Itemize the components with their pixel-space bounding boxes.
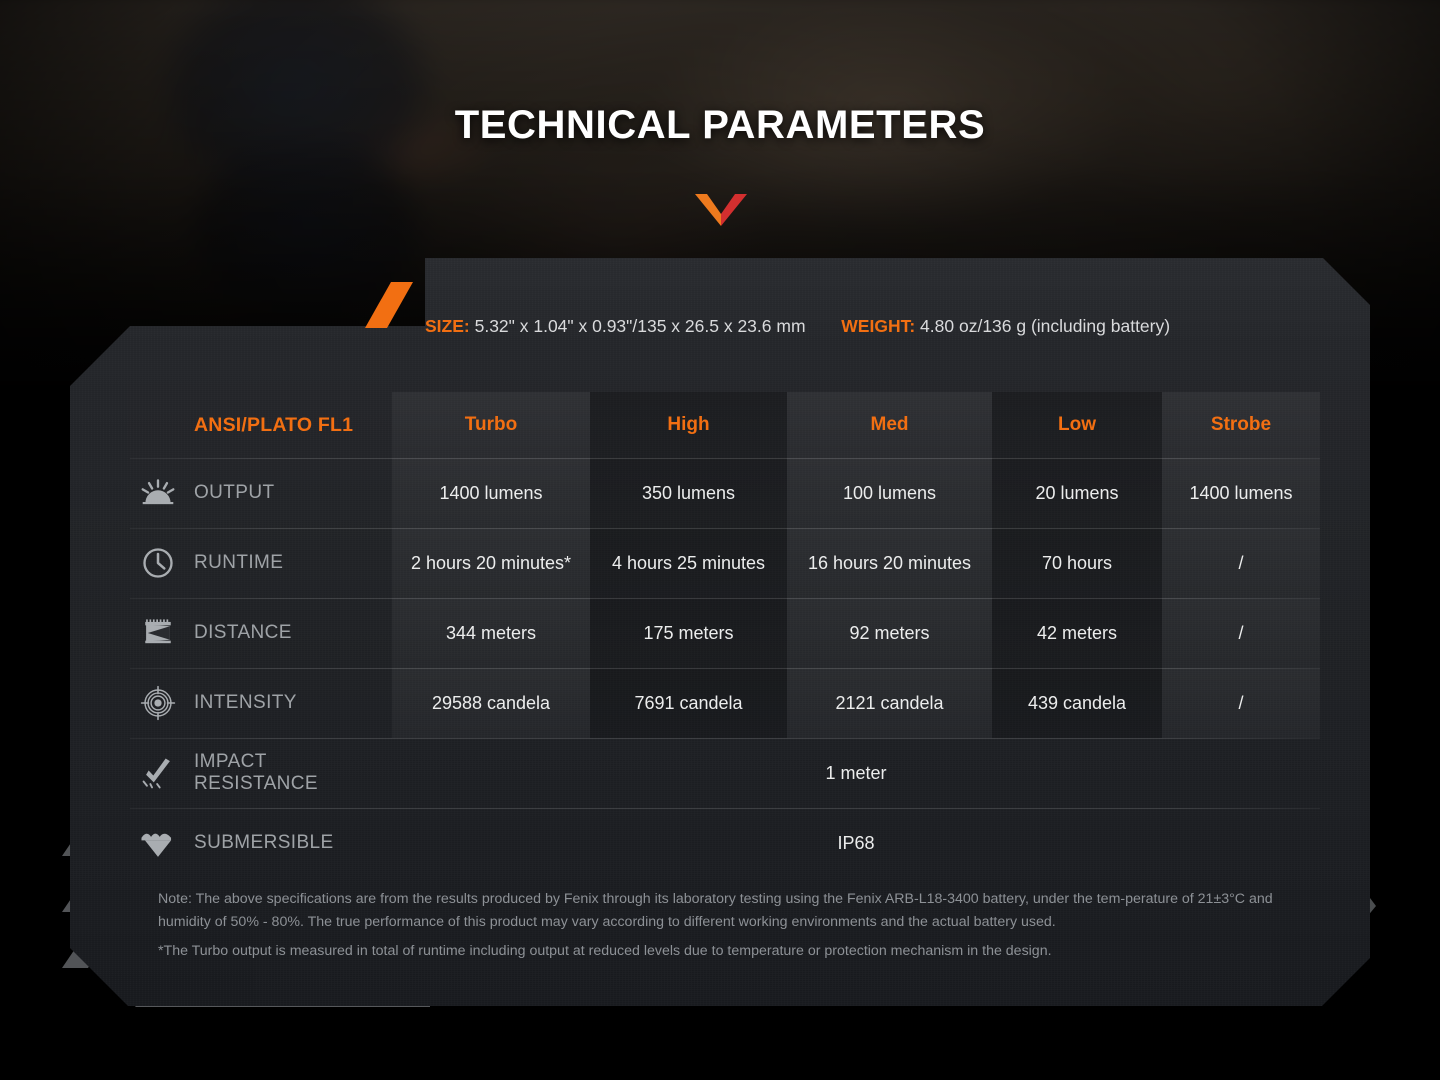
cell-intensity-high: 7691 candela <box>590 668 787 738</box>
row-label-submersible: SUBMERSIBLE <box>130 808 392 878</box>
target-icon <box>136 684 180 722</box>
table-header-row: ANSI/PLATO FL1 Turbo High Med Low Strobe <box>130 392 1320 458</box>
row-label-text: RUNTIME <box>194 552 283 574</box>
footnote-line-2: *The Turbo output is measured in total o… <box>158 940 1302 963</box>
cell-runtime-strobe: / <box>1162 528 1320 598</box>
row-label-text: INTENSITY <box>194 692 297 714</box>
table-row: SUBMERSIBLE IP68 <box>130 808 1320 878</box>
technical-parameters-page: TECHNICAL PARAMETERS <box>0 0 1440 1080</box>
cell-output-med: 100 lumens <box>787 458 992 528</box>
header-standard-label: ANSI/PLATO FL1 <box>194 414 353 437</box>
table-row: IMPACT RESISTANCE 1 meter <box>130 738 1320 808</box>
footnote-block: Note: The above specifications are from … <box>158 888 1302 963</box>
cell-distance-low: 42 meters <box>992 598 1162 668</box>
cell-impact-resistance-value: 1 meter <box>392 738 1320 808</box>
cell-output-low: 20 lumens <box>992 458 1162 528</box>
cell-runtime-med: 16 hours 20 minutes <box>787 528 992 598</box>
row-label-text: SUBMERSIBLE <box>194 832 334 854</box>
water-drop-icon <box>136 827 180 859</box>
cell-output-strobe: 1400 lumens <box>1162 458 1320 528</box>
table-row: OUTPUT 1400 lumens 350 lumens 100 lumens… <box>130 458 1320 528</box>
cell-distance-med: 92 meters <box>787 598 992 668</box>
cell-intensity-low: 439 candela <box>992 668 1162 738</box>
cell-distance-turbo: 344 meters <box>392 598 590 668</box>
cell-runtime-turbo: 2 hours 20 minutes* <box>392 528 590 598</box>
clock-icon <box>136 545 180 581</box>
footnote-line-1: Note: The above specifications are from … <box>158 888 1302 933</box>
cell-submersible-value: IP68 <box>392 808 1320 878</box>
header-standard-cell: ANSI/PLATO FL1 <box>130 392 392 458</box>
header-mode-high: High <box>590 392 787 458</box>
table-row: RUNTIME 2 hours 20 minutes* 4 hours 25 m… <box>130 528 1320 598</box>
cell-distance-high: 175 meters <box>590 598 787 668</box>
weight-value: 4.80 oz/136 g (including battery) <box>920 316 1170 336</box>
cell-output-turbo: 1400 lumens <box>392 458 590 528</box>
table-row: INTENSITY 29588 candela 7691 candela 212… <box>130 668 1320 738</box>
row-label-text: DISTANCE <box>194 622 292 644</box>
size-value: 5.32" x 1.04" x 0.93"/135 x 26.5 x 23.6 … <box>475 316 806 336</box>
size-label: SIZE: <box>425 316 470 336</box>
cell-intensity-med: 2121 candela <box>787 668 992 738</box>
sunburst-icon <box>136 475 180 511</box>
cell-intensity-strobe: / <box>1162 668 1320 738</box>
row-label-text: OUTPUT <box>194 482 275 504</box>
beam-distance-icon <box>136 616 180 650</box>
row-label-distance: DISTANCE <box>130 598 392 668</box>
header-mode-med: Med <box>787 392 992 458</box>
row-label-runtime: RUNTIME <box>130 528 392 598</box>
row-label-intensity: INTENSITY <box>130 668 392 738</box>
size-weight-strip: SIZE: 5.32" x 1.04" x 0.93"/135 x 26.5 x… <box>425 308 1325 344</box>
weight-label: WEIGHT: <box>841 316 915 336</box>
cell-runtime-low: 70 hours <box>992 528 1162 598</box>
impact-check-icon <box>136 756 180 790</box>
row-label-impact-resistance: IMPACT RESISTANCE <box>130 738 392 808</box>
cell-runtime-high: 4 hours 25 minutes <box>590 528 787 598</box>
cell-distance-strobe: / <box>1162 598 1320 668</box>
table-row: DISTANCE 344 meters 175 meters 92 meters… <box>130 598 1320 668</box>
specifications-table: ANSI/PLATO FL1 Turbo High Med Low Strobe <box>130 392 1320 878</box>
cell-output-high: 350 lumens <box>590 458 787 528</box>
chevron-down-icon <box>695 192 747 226</box>
row-label-text: IMPACT RESISTANCE <box>194 751 392 795</box>
row-label-output: OUTPUT <box>130 458 392 528</box>
header-mode-strobe: Strobe <box>1162 392 1320 458</box>
header-mode-low: Low <box>992 392 1162 458</box>
page-title: TECHNICAL PARAMETERS <box>0 103 1440 148</box>
cell-intensity-turbo: 29588 candela <box>392 668 590 738</box>
header-mode-turbo: Turbo <box>392 392 590 458</box>
